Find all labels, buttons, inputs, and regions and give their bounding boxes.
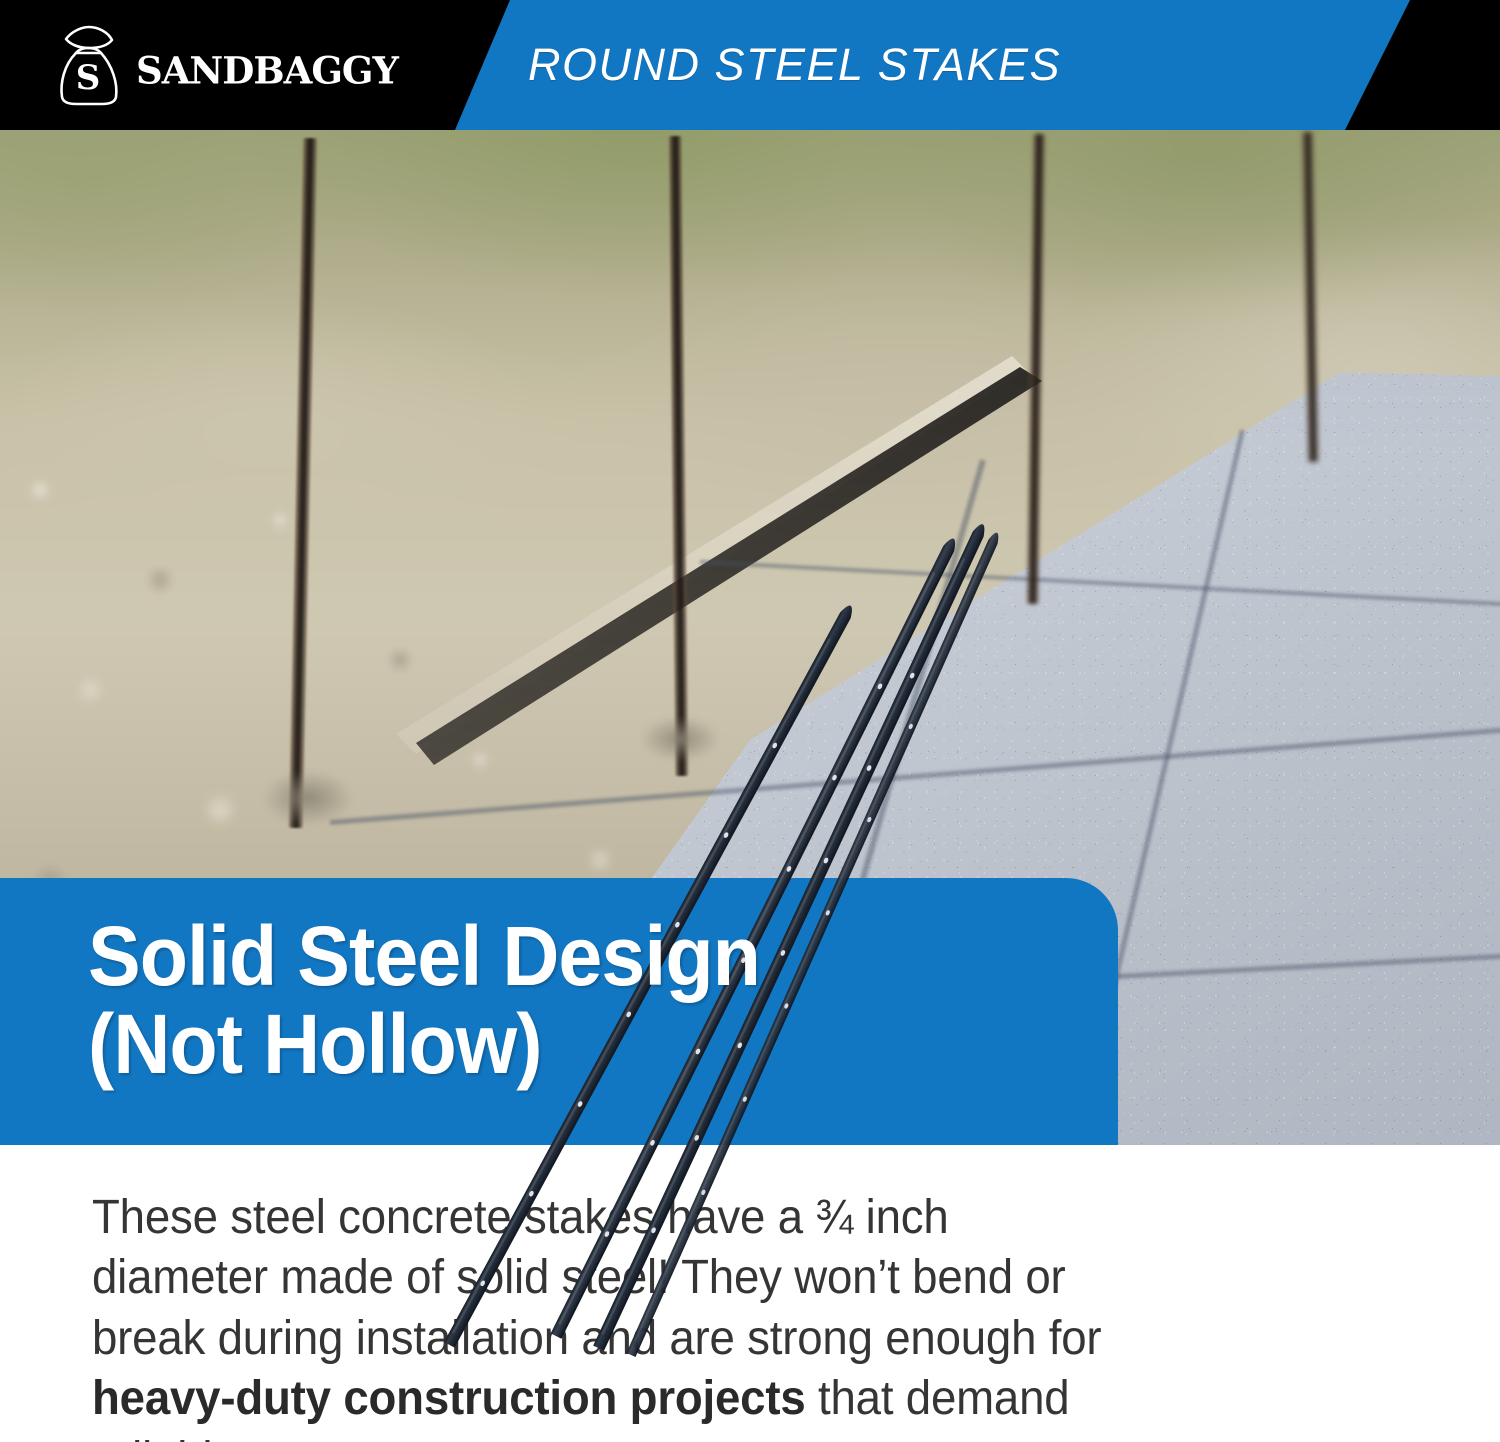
header-bar: S SANDBAGGY ROUND STEEL STAKES	[0, 0, 1500, 130]
headline-line-2: (Not Hollow)	[88, 1000, 1028, 1088]
infographic-root: Solid Steel Design (Not Hollow) These st…	[0, 0, 1500, 1442]
body-description: These steel concrete stakes have a ¾ inc…	[92, 1188, 1128, 1442]
headline-line-1: Solid Steel Design	[88, 912, 1028, 1000]
header-title: ROUND STEEL STAKES	[528, 0, 1061, 130]
body-text-part-1: These steel concrete stakes have a ¾ inc…	[92, 1191, 1101, 1365]
sandbag-icon: S	[56, 23, 120, 107]
brand-name: SANDBAGGY	[136, 38, 398, 92]
rebar-base-shadow	[262, 770, 354, 826]
brand-logo[interactable]: S SANDBAGGY	[56, 22, 398, 108]
body-text-bold: heavy-duty construction projects	[92, 1372, 806, 1425]
page-title: Solid Steel Design (Not Hollow)	[88, 912, 1028, 1088]
svg-text:S: S	[76, 58, 101, 98]
rebar-base-shadow	[640, 716, 720, 762]
